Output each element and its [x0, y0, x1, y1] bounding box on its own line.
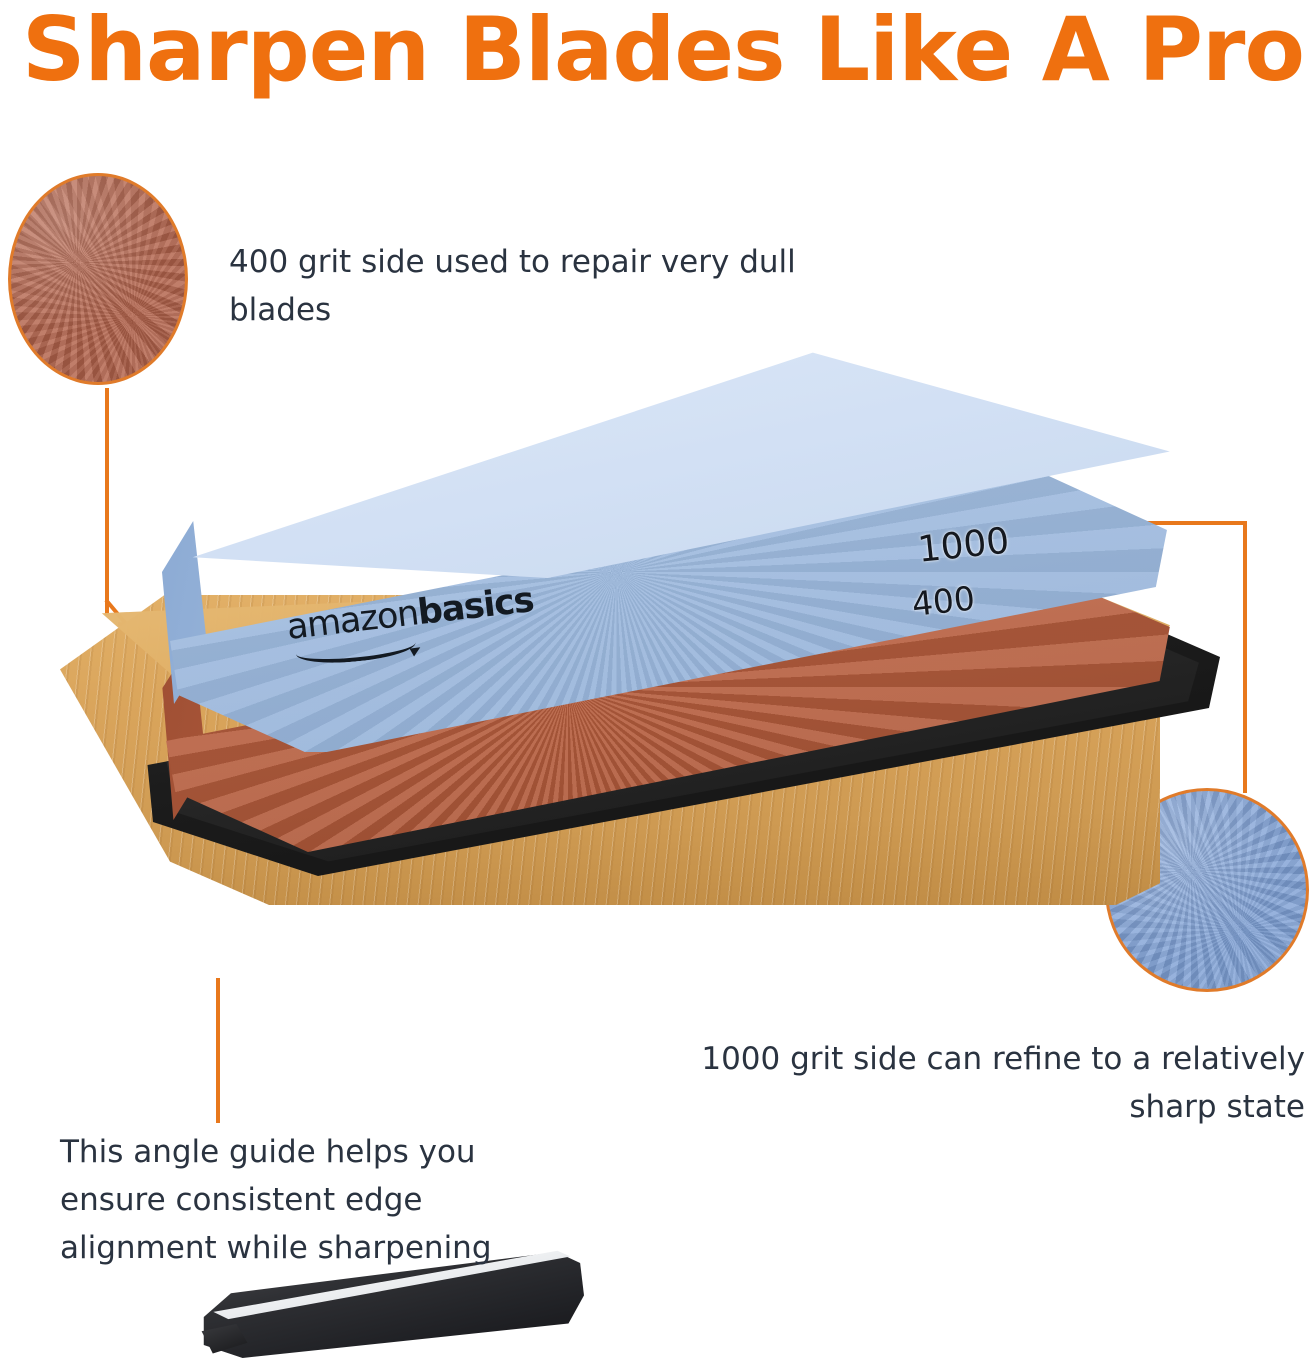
- callout-text-1000-grit: 1000 grit side can refine to a relativel…: [615, 1035, 1305, 1131]
- 400-grit-swatch-icon: [8, 173, 188, 385]
- callout-text-angle-guide: This angle guide helps you ensure consis…: [60, 1128, 580, 1272]
- callout-text-400-grit: 400 grit side used to repair very dull b…: [229, 238, 799, 334]
- product-illustration: 1000 400 amazonbasics: [0, 380, 1313, 1020]
- page-title: Sharpen Blades Like A Pro: [22, 0, 1302, 102]
- infographic-canvas: Sharpen Blades Like A Pro 1000 400 amazo…: [0, 0, 1313, 1277]
- brand-suffix: basics: [416, 580, 536, 633]
- coarse-grit-label: 400: [910, 579, 977, 624]
